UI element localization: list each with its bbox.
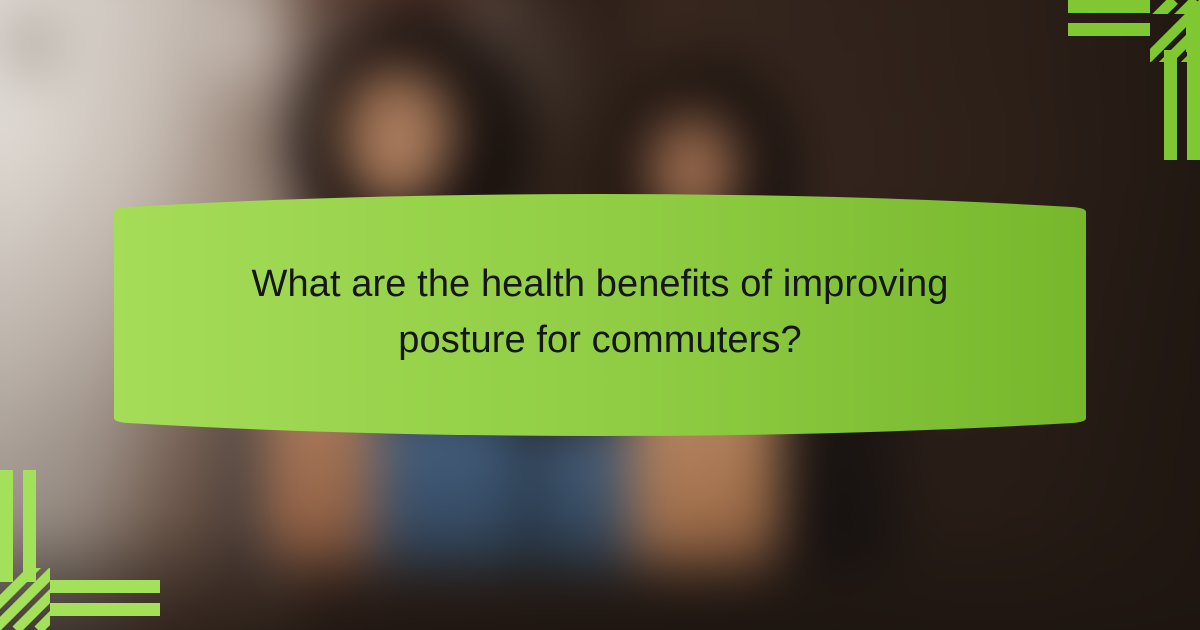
headline-text-container: What are the health benefits of improvin… — [100, 190, 1100, 440]
headline-banner: What are the health benefits of improvin… — [100, 190, 1100, 440]
share-card: What are the health benefits of improvin… — [0, 0, 1200, 630]
person-left-eye — [364, 116, 388, 130]
page-title: What are the health benefits of improvin… — [230, 257, 970, 369]
background-floor-shadow — [0, 520, 1200, 630]
background-wall-patch-1 — [0, 0, 90, 110]
